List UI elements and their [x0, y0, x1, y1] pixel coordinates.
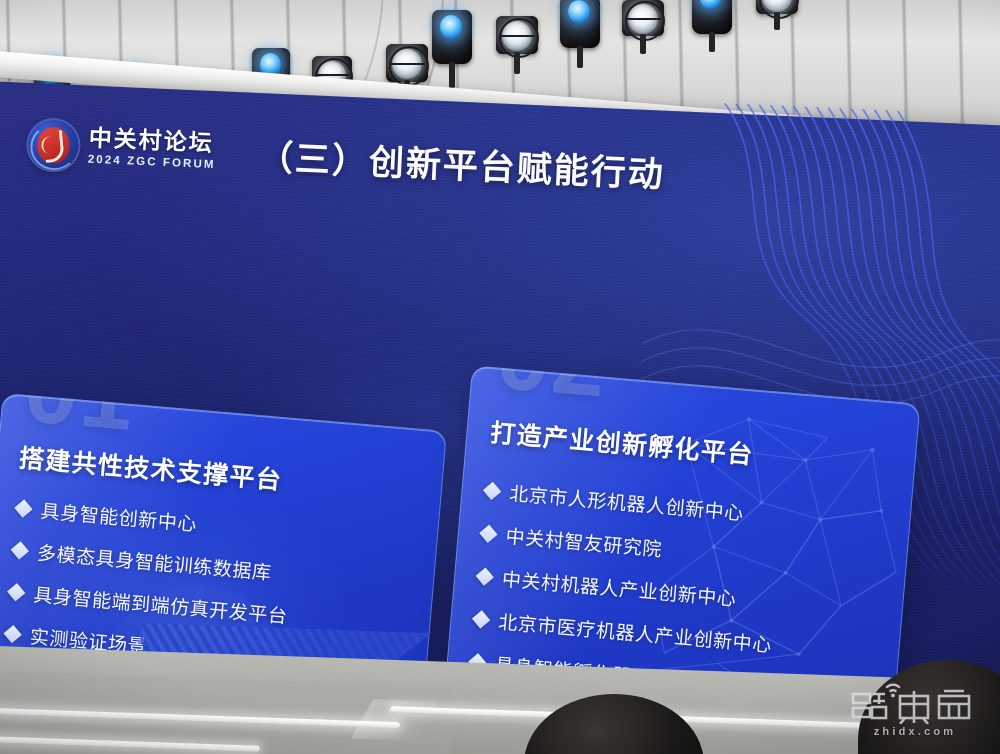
- logo-english-name: 2024 ZGC FORUM: [88, 155, 216, 172]
- zgc-emblem-icon: [27, 119, 79, 171]
- diamond-bullet-icon: [476, 567, 494, 585]
- led-stage-screen: 中关村论坛 2024 ZGC FORUM （三）创新平台赋能行动: [0, 81, 1000, 706]
- slide-title: （三）创新平台赋能行动: [257, 129, 666, 198]
- list-item-label: 中关村机器人产业创新中心: [501, 565, 738, 612]
- zgc-forum-logo: 中关村论坛 2024 ZGC FORUM: [27, 119, 217, 177]
- stage-apron: [0, 622, 1000, 754]
- diamond-bullet-icon: [483, 482, 501, 500]
- diamond-bullet-icon: [479, 525, 497, 543]
- list-item-label: 中关村智友研究院: [505, 522, 664, 562]
- list-item-label: 多模态具身智能训练数据库: [36, 538, 273, 585]
- logo-chinese-name: 中关村论坛: [88, 127, 217, 156]
- diamond-bullet-icon: [7, 583, 25, 601]
- conference-stage-photo: 中关村论坛 2024 ZGC FORUM （三）创新平台赋能行动: [0, 0, 1000, 754]
- diamond-bullet-icon: [11, 541, 29, 559]
- diamond-bullet-icon: [14, 499, 32, 517]
